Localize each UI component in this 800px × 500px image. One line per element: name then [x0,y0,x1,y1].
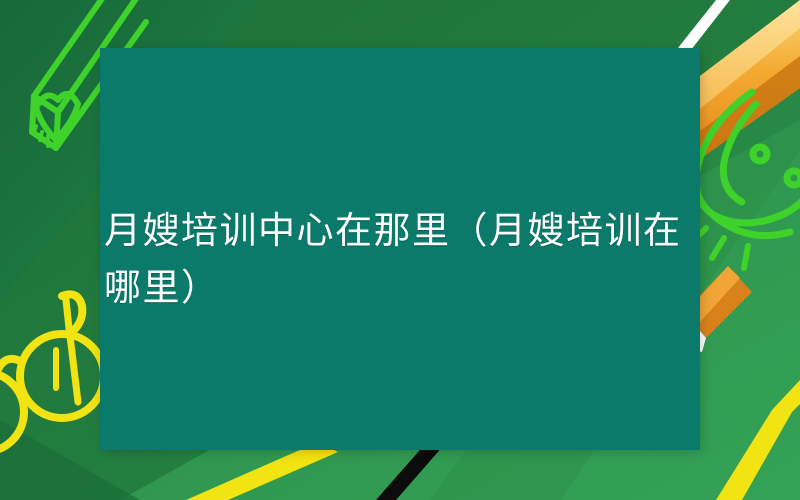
poster-canvas: 月嫂培训中心在那里（月嫂培训在哪里） [0,0,800,500]
page-title: 月嫂培训中心在那里（月嫂培训在哪里） [100,202,700,316]
content-card: 月嫂培训中心在那里（月嫂培训在哪里） [100,48,700,450]
